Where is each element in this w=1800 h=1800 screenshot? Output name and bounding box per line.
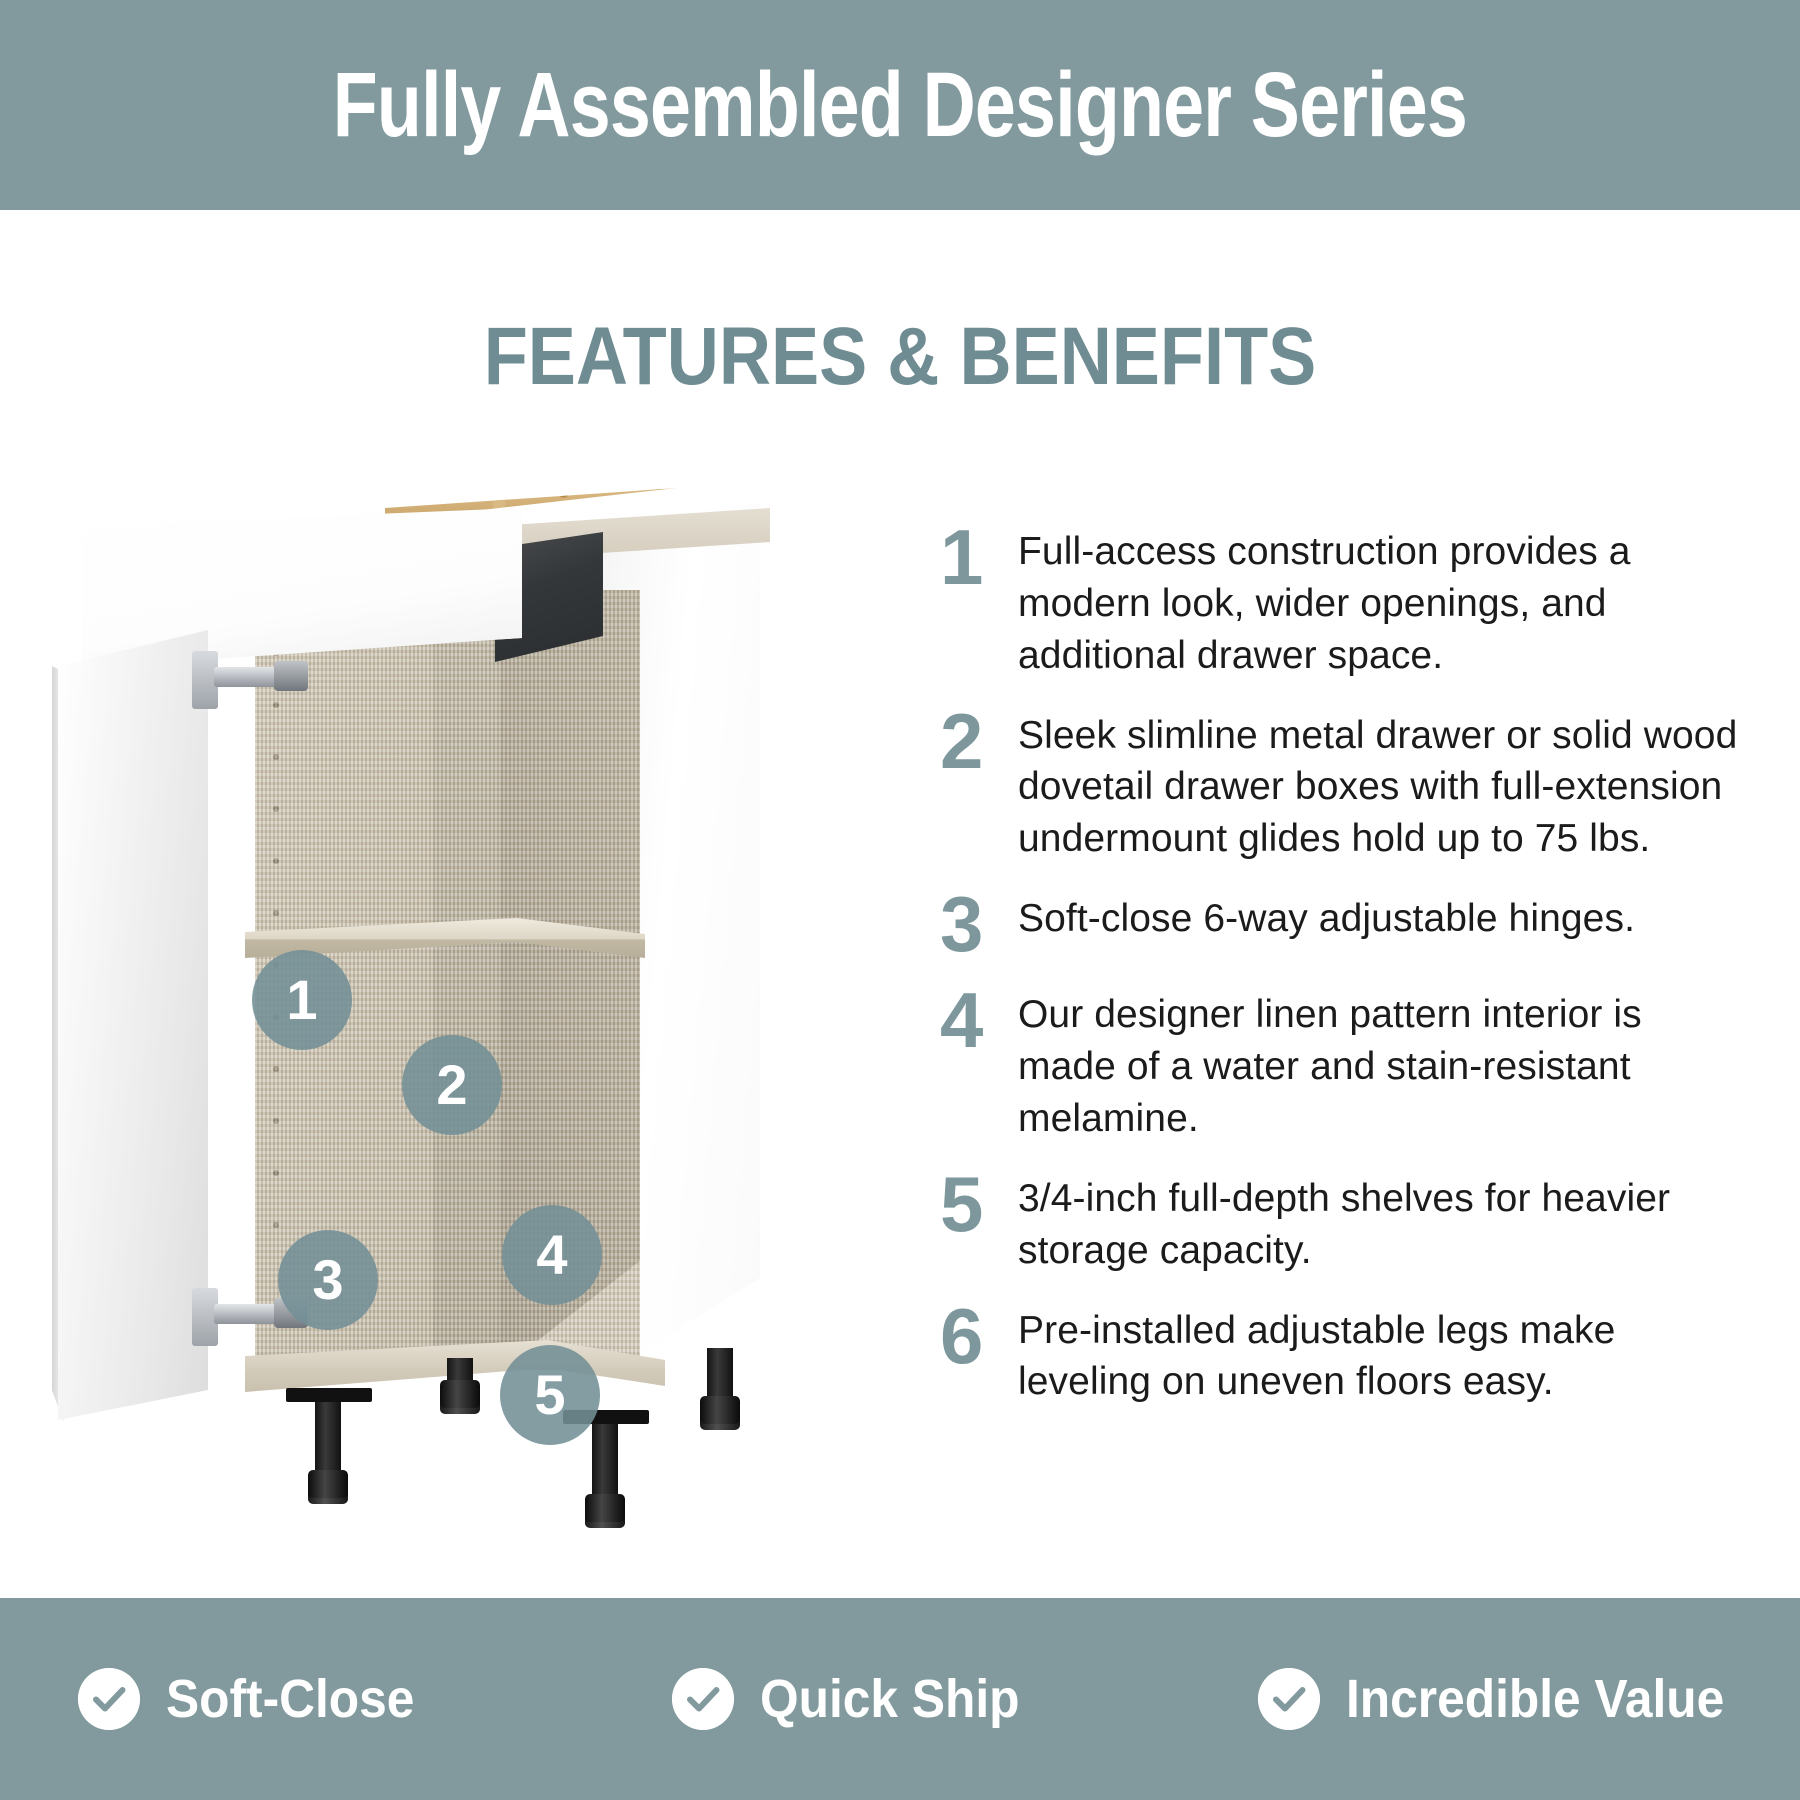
cabinet-assembly [40,440,910,1500]
footer-item-quick-ship: Quick Ship [672,1668,1042,1730]
feature-item-4: 4 Our designer linen pattern interior is… [940,983,1740,1145]
feature-item-2: 2 Sleek slimline metal drawer or solid w… [940,704,1740,866]
header-bar: Fully Assembled Designer Series [0,0,1800,210]
callout-badge-5[interactable]: 5 [500,1345,600,1445]
page-title: Fully Assembled Designer Series [333,53,1467,158]
feature-text-1: Full-access construction provides a mode… [1018,520,1740,682]
footer-item-incredible-value: Incredible Value [1258,1668,1757,1730]
feature-item-1: 1 Full-access construction provides a mo… [940,520,1740,682]
footer-label-quick-ship: Quick Ship [760,1668,1019,1730]
footer-label-incredible-value: Incredible Value [1346,1668,1724,1730]
footer-bar: Soft-Close Quick Ship Incredible Value [0,1598,1800,1800]
section-title: FEATURES & BENEFITS [108,310,1692,404]
feature-item-6: 6 Pre-installed adjustable legs make lev… [940,1299,1740,1409]
footer-item-soft-close: Soft-Close [78,1668,436,1730]
feature-number-2: 2 [940,704,1018,866]
feature-text-2: Sleek slimline metal drawer or solid woo… [1018,704,1740,866]
feature-number-1: 1 [940,520,1018,682]
feature-list: 1 Full-access construction provides a mo… [940,520,1740,1430]
cabinet-door [58,630,208,1420]
feature-item-3: 3 Soft-close 6-way adjustable hinges. [940,887,1740,961]
check-circle-icon [672,1668,734,1730]
product-illustration: 1 2 3 4 5 6 [40,440,910,1500]
adjustable-leg-back-right [700,1348,740,1430]
feature-number-3: 3 [940,887,1018,961]
feature-text-4: Our designer linen pattern interior is m… [1018,983,1740,1145]
callout-badge-2[interactable]: 2 [402,1035,502,1135]
check-circle-icon [1258,1668,1320,1730]
adjustable-leg-front-right [585,1422,625,1528]
feature-item-5: 5 3/4-inch full-depth shelves for heavie… [940,1167,1740,1277]
feature-text-5: 3/4-inch full-depth shelves for heavier … [1018,1167,1740,1277]
callout-badge-4[interactable]: 4 [502,1205,602,1305]
feature-number-5: 5 [940,1167,1018,1277]
callout-badge-3[interactable]: 3 [278,1230,378,1330]
check-circle-icon [78,1668,140,1730]
adjustable-leg-back-left [440,1358,480,1414]
footer-label-soft-close: Soft-Close [166,1668,414,1730]
feature-number-4: 4 [940,983,1018,1145]
feature-text-3: Soft-close 6-way adjustable hinges. [1018,887,1740,961]
adjustable-leg-front-left [308,1400,348,1504]
feature-text-6: Pre-installed adjustable legs make level… [1018,1299,1740,1409]
feature-number-6: 6 [940,1299,1018,1409]
soft-close-hinge-top [192,645,310,711]
callout-badge-1[interactable]: 1 [252,950,352,1050]
